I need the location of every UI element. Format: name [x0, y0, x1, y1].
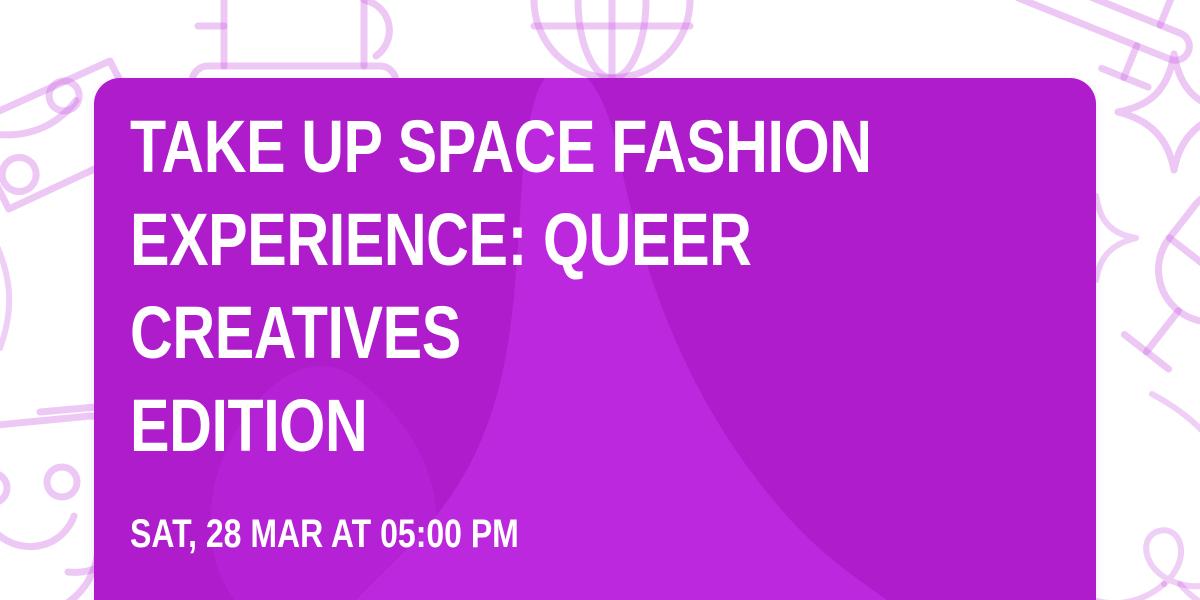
event-date: SAT, 28 MAR AT 05:00 PM [130, 472, 879, 556]
confetti-line-icon [0, 236, 80, 356]
event-card[interactable]: TAKE UP SPACE FASHION EXPERIENCE: QUEER … [94, 78, 1096, 600]
card-content: TAKE UP SPACE FASHION EXPERIENCE: QUEER … [130, 100, 1066, 556]
event-poster: TAKE UP SPACE FASHION EXPERIENCE: QUEER … [0, 0, 1200, 600]
microphone-icon [1128, 196, 1200, 396]
event-title: TAKE UP SPACE FASHION EXPERIENCE: QUEER … [130, 100, 879, 472]
sparkle-icon [1120, 46, 1200, 176]
